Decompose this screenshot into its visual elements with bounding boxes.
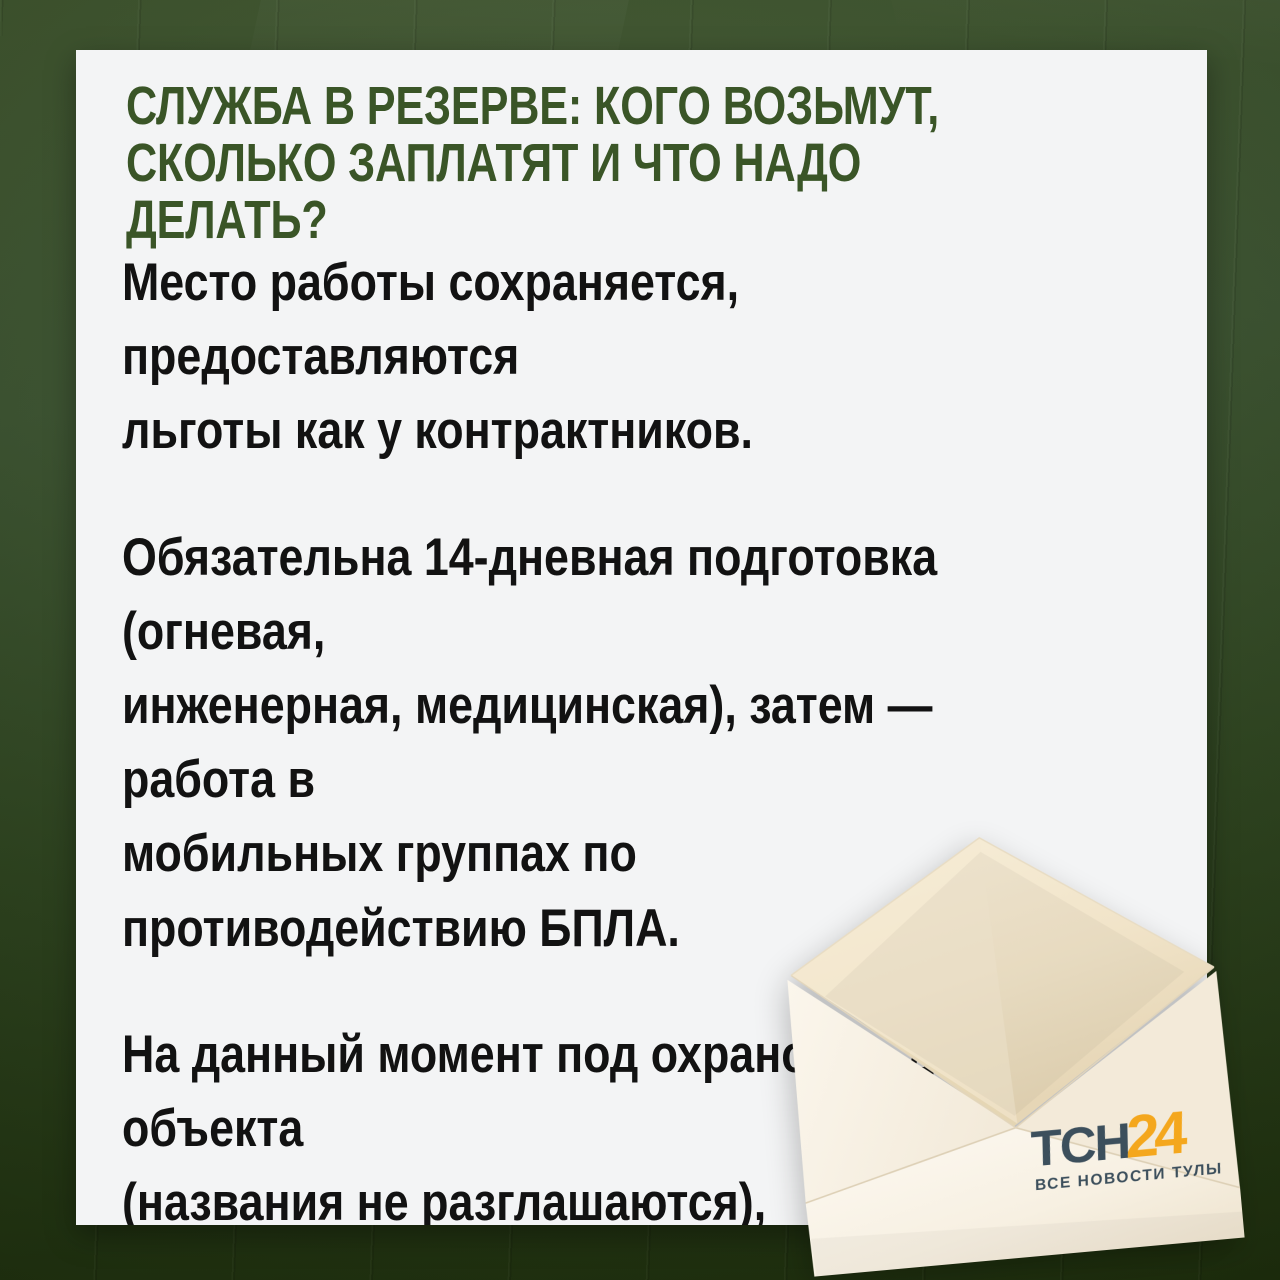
logo-brand-text: ТСН bbox=[1030, 1117, 1129, 1172]
envelope-svg bbox=[771, 809, 1246, 1277]
page-title: СЛУЖБА В РЕЗЕРВЕ: КОГО ВОЗЬМУТ, СКОЛЬКО … bbox=[126, 78, 958, 250]
logo-number-text: 24 bbox=[1125, 1105, 1182, 1166]
envelope-illustration: ТСН 24 ВСЕ НОВОСТИ ТУЛЫ bbox=[771, 809, 1246, 1277]
tsn24-logo: ТСН 24 ВСЕ НОВОСТИ ТУЛЫ bbox=[1030, 1109, 1233, 1212]
poster-stage: СЛУЖБА В РЕЗЕРВЕ: КОГО ВОЗЬМУТ, СКОЛЬКО … bbox=[0, 0, 1280, 1280]
paragraph-1: Место работы сохраняется, предоставляютс… bbox=[122, 246, 1026, 469]
